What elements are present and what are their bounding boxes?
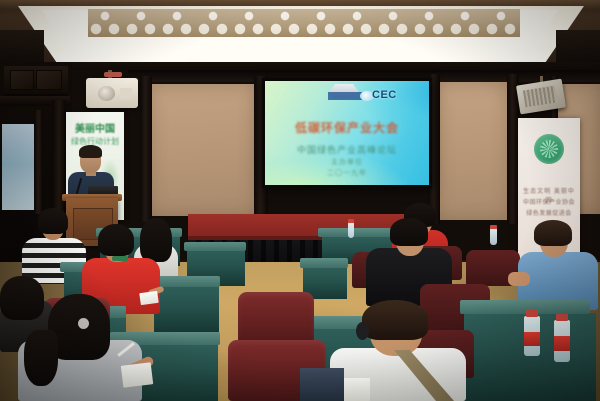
attendee-hair bbox=[0, 276, 44, 320]
window-mullion bbox=[34, 110, 43, 214]
hair-clip-icon bbox=[78, 318, 89, 329]
water-bottle-icon bbox=[490, 228, 497, 245]
window-glare bbox=[2, 124, 34, 164]
notepad-icon bbox=[139, 291, 158, 305]
cabinet-panel bbox=[10, 70, 34, 90]
bottle-cap-icon bbox=[526, 310, 538, 317]
emblem-inner-pattern bbox=[540, 140, 558, 158]
slide-logo-text: CEC bbox=[372, 89, 400, 102]
downlight-icon bbox=[48, 44, 66, 54]
bottle-label bbox=[554, 336, 570, 351]
attendee-legs bbox=[300, 368, 344, 401]
attendee-ponytail bbox=[24, 330, 58, 386]
presenter-hair bbox=[79, 145, 102, 158]
fretwork-shading bbox=[88, 9, 520, 37]
projector-lens-icon bbox=[98, 86, 115, 101]
earpiece-icon bbox=[356, 322, 369, 340]
downlight-icon bbox=[536, 44, 554, 54]
attendee-hair bbox=[140, 218, 172, 262]
attendee-hair bbox=[98, 224, 134, 256]
bottle-label bbox=[524, 332, 540, 346]
conference-room-photo: CEC 低碳环保产业大会 中国绿色产业高峰论坛 主办单位 二〇一九年 美丽中国 … bbox=[0, 0, 600, 401]
bottle-cap-icon bbox=[556, 314, 568, 321]
table-top bbox=[300, 258, 348, 268]
water-bottle-icon bbox=[348, 222, 354, 238]
slide-subtitle-1: 中国绿色产业高峰论坛 bbox=[278, 144, 416, 156]
slide-subtitle-2: 主办单位 bbox=[290, 158, 404, 168]
projector-cable bbox=[104, 72, 122, 77]
cabinet-panel bbox=[36, 70, 62, 90]
wall-panel bbox=[150, 84, 256, 216]
banner-right-line-1: 生态文明 美丽中国 bbox=[522, 188, 576, 197]
attendee-hair bbox=[38, 208, 68, 234]
bottle-cap-icon bbox=[490, 225, 497, 229]
banner-right-line-3: 绿色发展促进会 bbox=[522, 210, 576, 219]
table-top bbox=[460, 300, 590, 314]
wall-stile bbox=[140, 76, 152, 222]
projector-vent bbox=[120, 88, 132, 99]
bottle-cap-icon bbox=[348, 219, 354, 223]
banner-right-line-2: 中国环保产业协会 bbox=[522, 199, 576, 208]
slide-title: 低碳环保产业大会 bbox=[272, 120, 422, 136]
lanyard-icon bbox=[112, 256, 128, 261]
table-top bbox=[318, 228, 400, 237]
attendee-hair bbox=[534, 220, 572, 246]
attendee-hair bbox=[362, 300, 428, 340]
slide-subtitle-3: 二〇一九年 bbox=[290, 169, 404, 179]
banner-left-line-1: 美丽中国 bbox=[70, 124, 120, 136]
attendee-hand bbox=[508, 272, 530, 286]
attendee-hair bbox=[390, 218, 428, 246]
table-top bbox=[184, 242, 246, 251]
wall-panel bbox=[437, 82, 509, 220]
logo-banner-bar bbox=[328, 92, 362, 100]
notepad-icon bbox=[121, 362, 153, 387]
table-skirt bbox=[154, 286, 219, 332]
